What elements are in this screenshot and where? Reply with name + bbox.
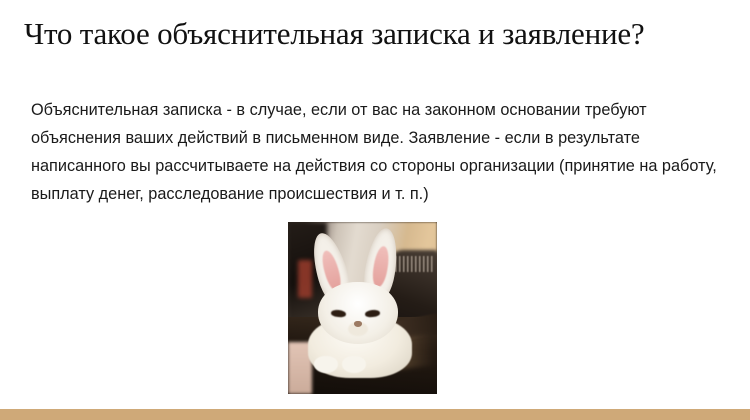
ear-inner-right xyxy=(370,245,391,288)
body-paragraph: Объяснительная записка - в случае, если … xyxy=(31,96,731,208)
slide: Что такое объяснительная записка и заявл… xyxy=(0,0,750,420)
page-title: Что такое объяснительная записка и заявл… xyxy=(24,14,724,54)
bottom-accent-bar xyxy=(0,409,750,420)
background-red-object xyxy=(298,260,311,298)
cat-head xyxy=(318,282,398,344)
photo-inner xyxy=(288,222,437,394)
cat-figure xyxy=(312,232,416,373)
cat-eye-right xyxy=(365,310,381,319)
cat-eye-left xyxy=(331,310,347,319)
cat-photo xyxy=(288,222,437,394)
